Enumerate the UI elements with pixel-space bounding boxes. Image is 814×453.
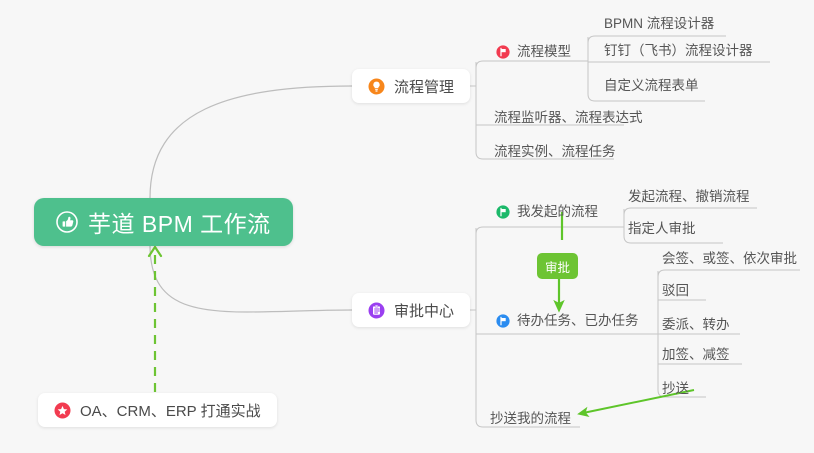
node-label: 驳回 [662,284,689,298]
callout-node-integration[interactable]: OA、CRM、ERP 打通实战 [38,393,277,427]
link-root-to-approval-center [150,245,352,312]
node-label: 待办任务、已办任务 [517,314,639,328]
flag-icon [496,45,510,59]
node-label: 加签、减签 [662,348,730,362]
branch-label: 审批中心 [394,300,454,321]
node-label: 抄送我的流程 [490,412,571,426]
star-icon [54,402,71,419]
node-label: 抄送 [662,382,689,396]
link-todo-to-countersign [658,270,800,277]
node-label: 委派、转办 [662,318,730,332]
branch-node-process-management[interactable]: 流程管理 [352,69,470,103]
arrow-callout-head [149,247,161,256]
approval-pill: 审批 [537,253,578,279]
flag-icon [496,314,510,328]
node-label: BPMN 流程设计器 [604,17,714,31]
node-todo-done-tasks[interactable]: 待办任务、已办任务 [492,311,643,333]
root-node[interactable]: 芋道 BPM 工作流 [34,198,293,246]
node-bpmn-designer[interactable]: BPMN 流程设计器 [600,14,718,36]
node-start-cancel-process[interactable]: 发起流程、撤销流程 [624,187,754,209]
node-my-initiated[interactable]: 我发起的流程 [492,202,602,224]
node-listener-expression[interactable]: 流程监听器、流程表达式 [490,108,647,130]
flag-icon [496,205,510,219]
root-label: 芋道 BPM 工作流 [88,205,271,239]
node-label: 我发起的流程 [517,205,598,219]
node-reject[interactable]: 驳回 [658,281,693,303]
node-label: 流程实例、流程任务 [494,145,616,159]
branch-node-approval-center[interactable]: 审批中心 [352,293,470,327]
link-mine-to-start [624,208,757,215]
node-label: 会签、或签、依次审批 [662,252,797,266]
node-custom-form[interactable]: 自定义流程表单 [600,76,703,98]
callout-label: OA、CRM、ERP 打通实战 [80,400,261,421]
node-delegate-transfer[interactable]: 委派、转办 [658,315,734,337]
node-cc-to-me[interactable]: 抄送我的流程 [486,409,575,431]
lightbulb-icon [368,78,385,95]
node-dingtalk-designer[interactable]: 钉钉（飞书）流程设计器 [600,41,757,63]
node-label: 钉钉（飞书）流程设计器 [604,44,753,58]
link-root-to-process-management [150,86,352,198]
node-cc[interactable]: 抄送 [658,379,693,401]
clipboard-icon [368,302,385,319]
node-countersign[interactable]: 会签、或签、依次审批 [658,249,801,271]
node-instance-task[interactable]: 流程实例、流程任务 [490,142,620,164]
node-assignee-approval[interactable]: 指定人审批 [624,219,700,241]
approval-pill-label: 审批 [545,257,570,276]
node-label: 指定人审批 [628,222,696,236]
node-label: 流程模型 [517,45,571,59]
node-label: 自定义流程表单 [604,79,699,93]
branch-label: 流程管理 [394,76,454,97]
link-ac-to-my-initiated [476,227,612,234]
thumbs-up-icon [56,211,78,233]
node-process-model[interactable]: 流程模型 [492,42,575,64]
node-label: 发起流程、撤销流程 [628,190,750,204]
node-label: 流程监听器、流程表达式 [494,111,643,125]
mindmap-canvas: 芋道 BPM 工作流 流程管理 流程模型 BPMN 流程设计器 钉钉（飞书 [0,0,814,453]
node-add-remove-sign[interactable]: 加签、减签 [658,345,734,367]
